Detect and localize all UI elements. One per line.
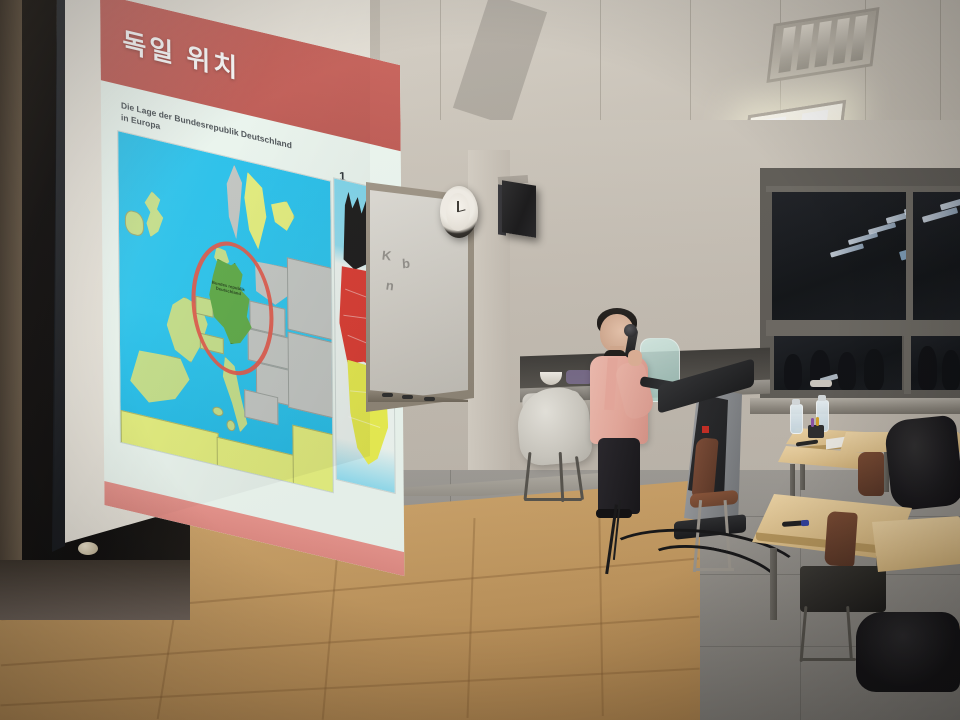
black-coat	[856, 612, 960, 692]
europe-map: Bundes republik Deutschland	[117, 130, 334, 493]
screen-pull-knob[interactable]	[78, 542, 98, 555]
water-bottle[interactable]	[790, 404, 803, 434]
chair-frame	[520, 452, 590, 502]
pen-holder[interactable]	[808, 425, 824, 438]
whiteboard-mark: n	[385, 278, 395, 294]
clock-face	[446, 193, 470, 231]
microphone-head	[624, 324, 637, 337]
power-indicator-icon	[702, 426, 709, 433]
slide-bottom-bar	[104, 481, 404, 576]
highlight-ellipse-icon	[191, 233, 274, 385]
marker-cap	[801, 520, 809, 527]
presenter	[586, 306, 662, 516]
chair-backrest[interactable]	[824, 511, 858, 567]
wall-speaker-icon	[502, 180, 536, 237]
window-wall	[760, 168, 960, 408]
window-pane-lower	[774, 336, 902, 390]
window-latch[interactable]	[810, 380, 832, 387]
whiteboard-mark: K	[381, 248, 392, 264]
projected-slide: 독일 위치 Die Lage der Bundesrepublik Deutsc…	[100, 0, 405, 614]
chair-backrest[interactable]	[858, 452, 884, 496]
whiteboard-mark: b	[401, 256, 410, 272]
window-pane-lower	[910, 334, 960, 390]
window-pane	[772, 192, 906, 324]
bottle-cap	[792, 399, 800, 405]
screen-left-edge	[52, 0, 65, 552]
desk[interactable]	[872, 516, 960, 572]
desk-leg	[770, 548, 777, 620]
window-pane	[912, 190, 960, 322]
projection-screen[interactable]: 독일 위치 Die Lage der Bundesrepublik Deutsc…	[40, 0, 400, 586]
classroom-photo-scene: 독일 위치 Die Lage der Bundesrepublik Deutsc…	[0, 0, 960, 720]
presenter-hand	[628, 350, 642, 366]
black-coat-on-chair	[883, 414, 960, 511]
alcove-frame	[0, 0, 22, 600]
bottle-cap	[818, 395, 826, 401]
window-sill	[750, 398, 960, 414]
